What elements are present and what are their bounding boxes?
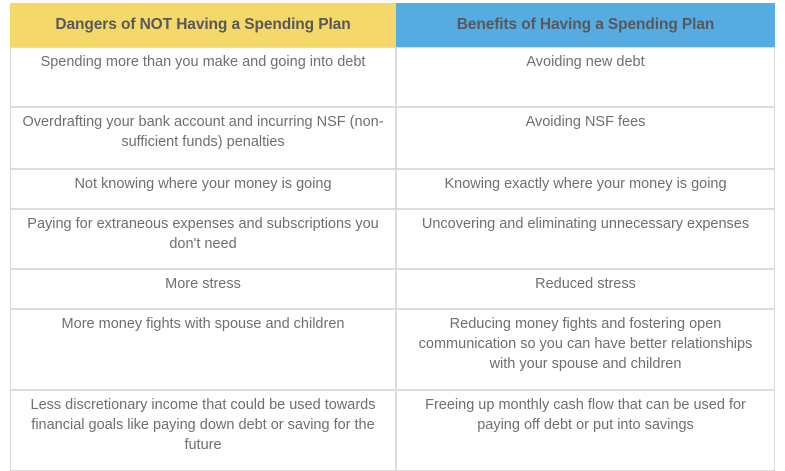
cell-danger: More money fights with spouse and childr…: [10, 309, 396, 390]
cell-benefit: Avoiding new debt: [396, 47, 775, 107]
cell-benefit: Uncovering and eliminating unnecessary e…: [396, 209, 775, 269]
cell-danger: Paying for extraneous expenses and subsc…: [10, 209, 396, 269]
column-header-dangers: Dangers of NOT Having a Spending Plan: [10, 3, 396, 47]
table-row: More money fights with spouse and childr…: [10, 309, 775, 390]
cell-danger: Not knowing where your money is going: [10, 169, 396, 209]
cell-benefit: Reduced stress: [396, 269, 775, 309]
table-row: Paying for extraneous expenses and subsc…: [10, 209, 775, 269]
cell-danger: More stress: [10, 269, 396, 309]
table-row: More stress Reduced stress: [10, 269, 775, 309]
table-row: Overdrafting your bank account and incur…: [10, 107, 775, 169]
table-row: Less discretionary income that could be …: [10, 390, 775, 471]
cell-danger: Spending more than you make and going in…: [10, 47, 396, 107]
table-row: Spending more than you make and going in…: [10, 47, 775, 107]
cell-danger: Overdrafting your bank account and incur…: [10, 107, 396, 169]
table-header-row: Dangers of NOT Having a Spending Plan Be…: [10, 3, 775, 47]
table-header: Dangers of NOT Having a Spending Plan Be…: [10, 3, 775, 47]
column-header-benefits: Benefits of Having a Spending Plan: [396, 3, 775, 47]
cell-benefit: Freeing up monthly cash flow that can be…: [396, 390, 775, 471]
comparison-table-container: Dangers of NOT Having a Spending Plan Be…: [0, 0, 785, 407]
cell-danger: Less discretionary income that could be …: [10, 390, 396, 471]
cell-benefit: Knowing exactly where your money is goin…: [396, 169, 775, 209]
table-row: Not knowing where your money is going Kn…: [10, 169, 775, 209]
cell-benefit: Avoiding NSF fees: [396, 107, 775, 169]
cell-benefit: Reducing money fights and fostering open…: [396, 309, 775, 390]
spending-plan-comparison-table: Dangers of NOT Having a Spending Plan Be…: [10, 3, 775, 471]
table-body: Spending more than you make and going in…: [10, 47, 775, 471]
